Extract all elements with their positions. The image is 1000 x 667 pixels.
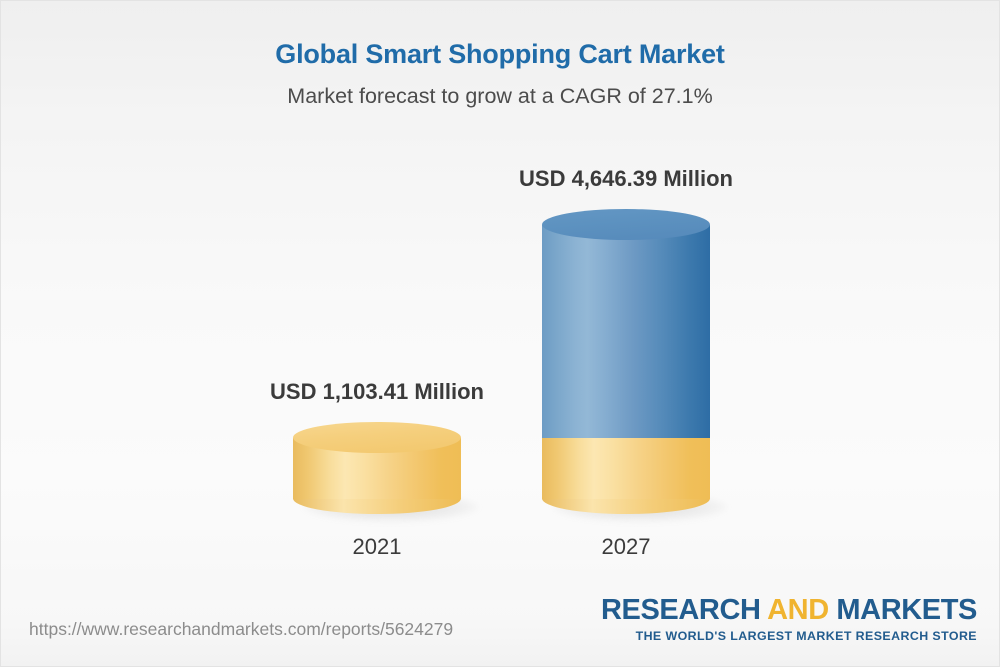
bar-segment-top-2027 (542, 225, 710, 438)
brand-logo-tagline: THE WORLD'S LARGEST MARKET RESEARCH STOR… (601, 628, 977, 644)
bar-cylinder-2027[interactable] (542, 209, 710, 514)
bar-cylinder-top-cap-2021 (293, 422, 461, 453)
chart-plot-area: USD 1,103.41 Million 2021 USD 4,646.39 M… (1, 1, 999, 601)
brand-logo-wordmark: RESEARCH AND MARKETS (601, 594, 977, 627)
brand-logo-research: RESEARCH (601, 594, 767, 626)
bar-group-2021[interactable]: USD 1,103.41 Million 2021 (293, 1, 461, 601)
bar-cylinder-2021[interactable] (293, 422, 461, 514)
bar-group-2027[interactable]: USD 4,646.39 Million 2027 (542, 1, 710, 601)
bar-value-label-2027: USD 4,646.39 Million (502, 166, 750, 192)
brand-logo-and: AND (767, 594, 829, 626)
bar-category-label-2027: 2027 (542, 534, 710, 560)
brand-logo[interactable]: RESEARCH AND MARKETS THE WORLD'S LARGEST… (601, 594, 977, 644)
bar-segment-base-2027 (542, 438, 710, 499)
source-url[interactable]: https://www.researchandmarkets.com/repor… (29, 618, 453, 640)
bar-cylinder-top-cap-2027 (542, 209, 710, 240)
bar-category-label-2021: 2021 (293, 534, 461, 560)
bar-value-label-2021: USD 1,103.41 Million (253, 379, 501, 405)
infographic-card: Global Smart Shopping Cart Market Market… (0, 0, 1000, 667)
brand-logo-markets: MARKETS (829, 594, 977, 626)
